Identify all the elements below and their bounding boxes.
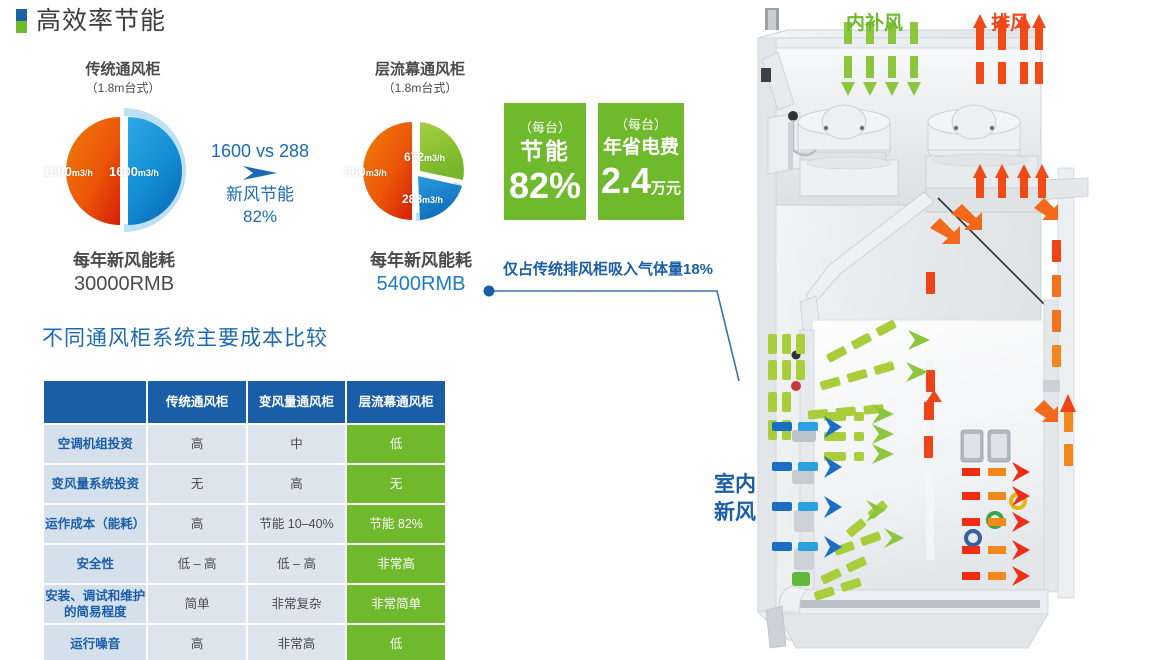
saving-value: 82% — [192, 206, 328, 228]
table-title: 不同通风柜系统主要成本比较 — [42, 322, 328, 352]
badge-1-mid: 年省电费 — [603, 134, 679, 161]
left-pie-caption: 传统通风柜 （1.8m台式） — [38, 60, 208, 97]
table-cell-highlight: 节能 82% — [347, 505, 445, 543]
right-pie-label-orange: 960m3/h — [344, 164, 387, 179]
right-pie-label-green: 672m3/h — [404, 150, 445, 164]
left-pie-title: 传统通风柜 — [38, 60, 208, 80]
table-cell-highlight: 非常简单 — [347, 585, 445, 623]
table-cell-highlight: 无 — [347, 465, 445, 503]
left-pie-footer-label: 每年新风能耗 — [38, 249, 210, 272]
table-row-label: 运行噪音 — [44, 625, 146, 660]
table-col-header-1: 传统通风柜 — [148, 381, 245, 423]
table-header-row: 传统通风柜 变风量通风柜 层流幕通风柜 — [44, 381, 445, 423]
table-cell-highlight: 低 — [347, 625, 445, 660]
saving-label: 新风节能 — [192, 184, 328, 206]
table-cell: 高 — [148, 425, 245, 463]
table-cell: 中 — [248, 425, 346, 463]
badge-1-sub: （每台） — [615, 115, 667, 134]
label-indoor-line1: 室内 — [714, 472, 756, 498]
table-row: 运行噪音 高 非常高 低 — [44, 625, 445, 660]
label-supply-air: 内补风 — [846, 8, 903, 35]
table-cell: 低 – 高 — [148, 545, 245, 583]
left-pie-footer-value: 30000RMB — [38, 272, 210, 297]
table-col-header-3: 层流幕通风柜 — [347, 381, 445, 423]
left-pie-label-blue: 1600m3/h — [109, 164, 159, 179]
table-row: 安装、调试和维护的简易程度 简单 非常复杂 非常简单 — [44, 585, 445, 623]
fume-hood-illustration: 内补风 排风 — [748, 0, 1149, 660]
table-row: 运作成本（能耗） 高 节能 10–40% 节能 82% — [44, 505, 445, 543]
brand-square-icon — [16, 9, 27, 33]
left-pie-footer: 每年新风能耗 30000RMB — [38, 249, 210, 297]
table-cell: 无 — [148, 465, 245, 503]
table-cell: 非常复杂 — [248, 585, 346, 623]
callout-leader-line — [480, 276, 740, 506]
badge-0-sub: （每台） — [519, 118, 571, 137]
badge-0-value: 82% — [509, 166, 581, 206]
cost-saving-badge: （每台） 年省电费 2.4万元 — [598, 103, 684, 220]
table-cell-highlight: 非常高 — [347, 545, 445, 583]
left-pie-subtitle: （1.8m台式） — [38, 80, 208, 97]
table-row-label: 安全性 — [44, 545, 146, 583]
comparison-callout: 1600 vs 288 新风节能 82% — [192, 140, 328, 228]
page-header: 高效率节能 — [16, 8, 166, 34]
table-row-label: 安装、调试和维护的简易程度 — [44, 585, 146, 623]
badge-0-mid: 节能 — [520, 137, 570, 166]
comparison-table: 传统通风柜 变风量通风柜 层流幕通风柜 空调机组投资 高 中 低 变风量系统投资… — [42, 379, 447, 660]
right-pie-caption: 层流幕通风柜 （1.8m台式） — [330, 60, 510, 97]
fume-hood-drawing — [748, 0, 1149, 660]
right-pie-label-blue: 288m3/h — [402, 192, 443, 206]
right-pie-footer-label: 每年新风能耗 — [330, 249, 512, 272]
right-pie-chart: 960m3/h 672m3/h 288m3/h — [342, 108, 497, 233]
table-col-header-2: 变风量通风柜 — [248, 381, 346, 423]
table-row-label: 变风量系统投资 — [44, 465, 146, 503]
right-pie-subtitle: （1.8m台式） — [330, 80, 510, 97]
table-cell: 高 — [248, 465, 346, 503]
table-col-header-0 — [44, 381, 146, 423]
left-pie-label-orange: 1600m3/h — [43, 164, 93, 179]
table-cell: 节能 10–40% — [248, 505, 346, 543]
badge-1-value: 2.4万元 — [601, 161, 681, 209]
table-cell-highlight: 低 — [347, 425, 445, 463]
right-pie-title: 层流幕通风柜 — [330, 60, 510, 80]
table-cell: 低 – 高 — [248, 545, 346, 583]
page-title: 高效率节能 — [36, 8, 166, 34]
label-exhaust-air: 排风 — [991, 8, 1029, 35]
poster-root: 高效率节能 传统通风柜 （1.8m台式） 1600m3/h — [0, 0, 1149, 660]
left-pie-chart: 1600m3/h 1600m3/h — [45, 105, 205, 235]
table-cell: 简单 — [148, 585, 245, 623]
energy-saving-badge: （每台） 节能 82% — [504, 103, 586, 220]
vs-arrow-icon — [192, 162, 328, 184]
table-row: 变风量系统投资 无 高 无 — [44, 465, 445, 503]
table-cell: 高 — [148, 625, 245, 660]
table-row: 安全性 低 – 高 低 – 高 非常高 — [44, 545, 445, 583]
table-row-label: 空调机组投资 — [44, 425, 146, 463]
vs-text: 1600 vs 288 — [192, 140, 328, 162]
table-cell: 非常高 — [248, 625, 346, 660]
table-row-label: 运作成本（能耗） — [44, 505, 146, 543]
table-row: 空调机组投资 高 中 低 — [44, 425, 445, 463]
table-cell: 高 — [148, 505, 245, 543]
label-indoor-line2: 新风 — [714, 500, 756, 526]
